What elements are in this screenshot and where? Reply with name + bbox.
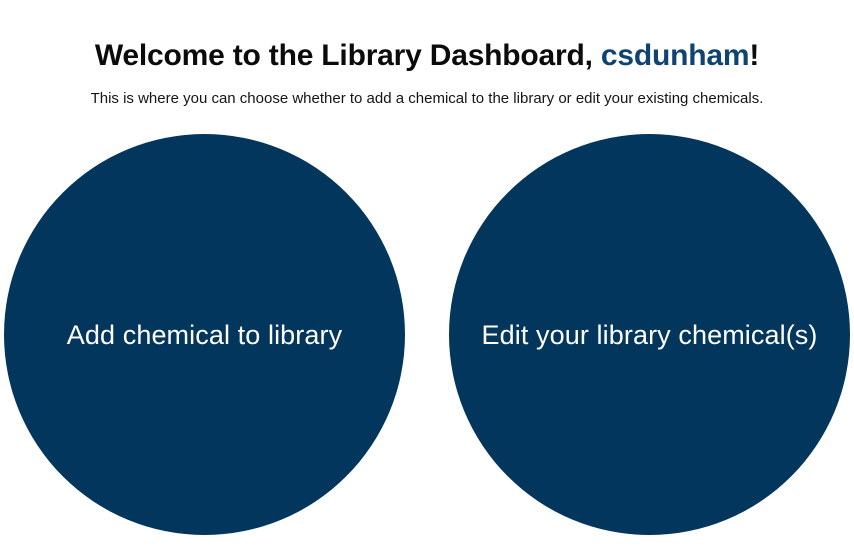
page-title-suffix: ! (749, 39, 759, 72)
edit-library-chemicals-label: Edit your library chemical(s) (456, 319, 844, 351)
edit-library-chemicals-button[interactable]: Edit your library chemical(s) (449, 134, 850, 535)
library-dashboard-page: Welcome to the Library Dashboard, csdunh… (0, 0, 854, 557)
add-chemical-to-library-label: Add chemical to library (41, 319, 368, 351)
page-title: Welcome to the Library Dashboard, csdunh… (0, 37, 854, 75)
page-title-username: csdunham (601, 39, 749, 72)
page-title-prefix: Welcome to the Library Dashboard, (95, 39, 601, 72)
action-circle-row: Add chemical to library Edit your librar… (4, 134, 850, 536)
page-subtitle: This is where you can choose whether to … (0, 89, 854, 109)
add-chemical-to-library-button[interactable]: Add chemical to library (4, 134, 405, 535)
